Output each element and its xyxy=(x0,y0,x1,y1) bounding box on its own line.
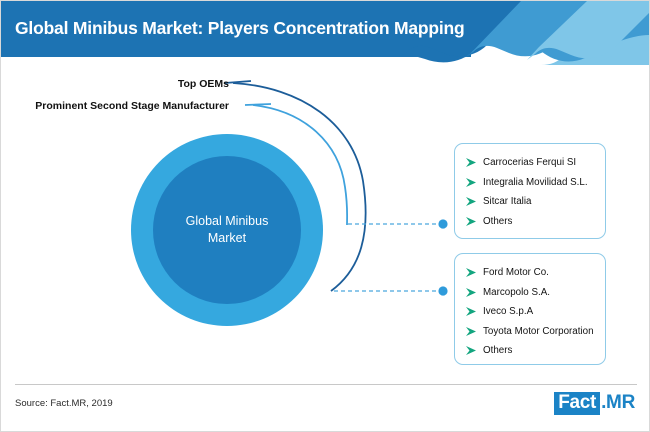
connector-dot-upper xyxy=(438,219,447,228)
list-item: Ford Motor Co. xyxy=(465,263,597,283)
list-item: Integralia Movilidad S.L. xyxy=(465,173,597,193)
list-item-label: Others xyxy=(483,216,512,227)
arrow-right-icon xyxy=(465,287,478,298)
list-item: Marcopolo S.A. xyxy=(465,283,597,303)
list-item: Carrocerias Ferqui SI xyxy=(465,153,597,173)
arrow-right-icon xyxy=(465,326,478,337)
brand-logo-suffix: .MR xyxy=(600,392,635,414)
callout-label-top-oems: Top OEMs xyxy=(178,78,229,90)
footer-divider xyxy=(15,384,637,385)
arrow-right-icon xyxy=(465,196,478,207)
list-item-label: Toyota Motor Corporation xyxy=(483,326,594,337)
list-box-second-stage-manufacturers: Carrocerias Ferqui SI Integralia Movilid… xyxy=(454,143,606,239)
arrow-right-icon xyxy=(465,177,478,188)
list-item-label: Integralia Movilidad S.L. xyxy=(483,177,588,188)
list-item-label: Carrocerias Ferqui SI xyxy=(483,157,576,168)
source-note: Source: Fact.MR, 2019 xyxy=(15,398,113,409)
donut-center-line-1: Global Minibus xyxy=(186,213,269,230)
brand-logo-mark: Fact xyxy=(554,392,600,415)
list-item-label: Marcopolo S.A. xyxy=(483,287,550,298)
arrow-right-icon xyxy=(465,345,478,356)
list-box-top-oems: Ford Motor Co. Marcopolo S.A. Iveco S.p.… xyxy=(454,253,606,365)
header-band: Global Minibus Market: Players Concentra… xyxy=(1,1,650,65)
donut-center-label: Global Minibus Market xyxy=(131,134,323,326)
arrow-right-icon xyxy=(465,216,478,227)
list-item-label: Ford Motor Co. xyxy=(483,267,549,278)
brand-logo: Fact .MR xyxy=(554,391,635,415)
page-title: Global Minibus Market: Players Concentra… xyxy=(15,18,465,39)
list-item: Iveco S.p.A xyxy=(465,302,597,322)
list-item-label: Others xyxy=(483,345,512,356)
list-item-label: Sitcar Italia xyxy=(483,196,531,207)
list-item: Others xyxy=(465,212,597,232)
arrow-right-icon xyxy=(465,267,478,278)
arrow-right-icon xyxy=(465,306,478,317)
callout-label-second-stage: Prominent Second Stage Manufacturer xyxy=(35,100,229,112)
infographic-canvas: Global Minibus Market: Players Concentra… xyxy=(0,0,650,432)
leader-line-second-stage xyxy=(245,104,271,105)
donut-chart: Global Minibus Market xyxy=(131,134,323,326)
list-item: Toyota Motor Corporation xyxy=(465,322,597,342)
donut-center-line-2: Market xyxy=(208,230,246,247)
arrow-right-icon xyxy=(465,157,478,168)
list-item-label: Iveco S.p.A xyxy=(483,306,533,317)
list-item: Sitcar Italia xyxy=(465,192,597,212)
connector-dot-lower xyxy=(438,286,447,295)
list-item: Others xyxy=(465,341,597,361)
